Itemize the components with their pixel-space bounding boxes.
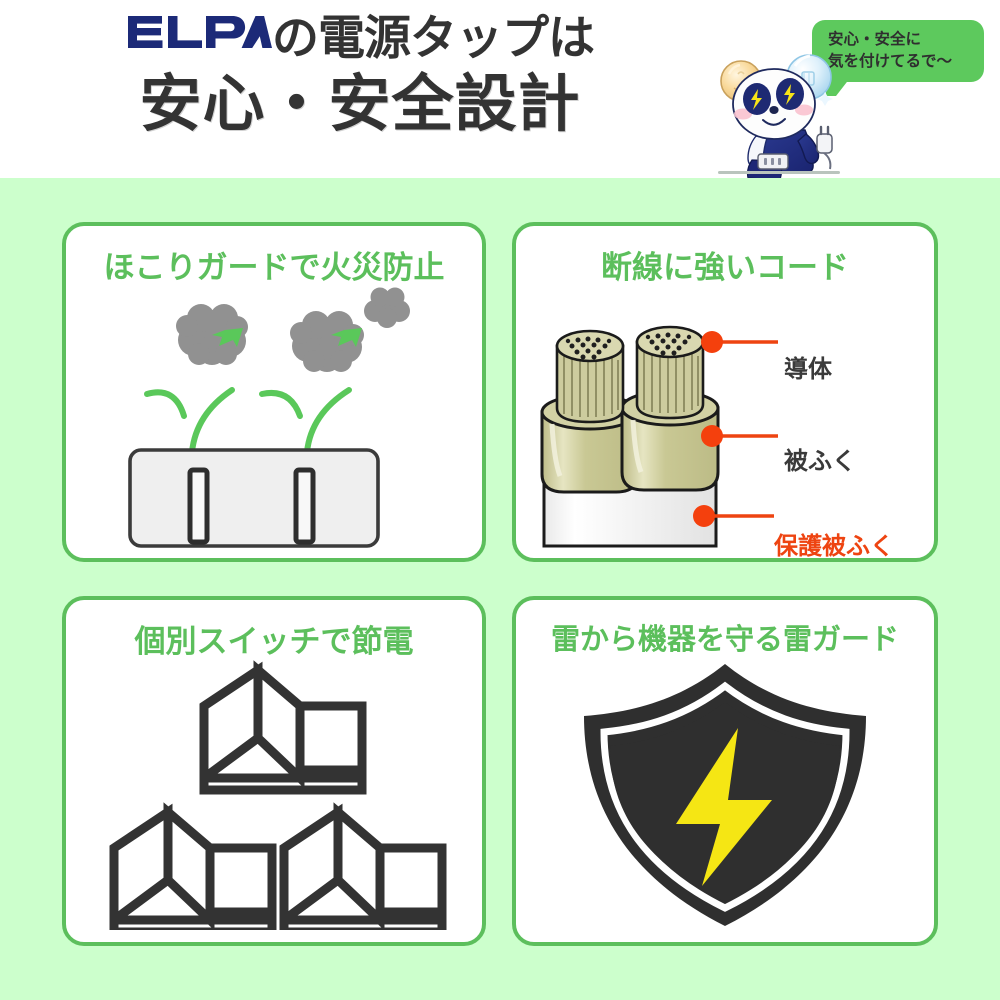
headline-line-2: 安心・安全設計 <box>0 68 720 142</box>
cable-label-conductor: 導体 <box>784 349 832 384</box>
rocker-switch-icon <box>114 670 442 930</box>
header: の電源タップは 安心・安全設計 安心・安全に 気を付けてるで〜 <box>0 0 1000 178</box>
power-tap-icon <box>758 154 788 169</box>
feature-card-surge-guard: 雷から機器を守る雷ガード <box>512 596 938 946</box>
headline-line-1: の電源タップは <box>0 8 720 68</box>
infographic-page: の電源タップは 安心・安全設計 安心・安全に 気を付けてるで〜 <box>0 0 1000 1000</box>
dust-guard-illustration <box>66 284 482 552</box>
headline-line-1-text: の電源タップは <box>272 11 594 64</box>
power-outlet-icon <box>130 450 378 546</box>
mascot-shadow <box>718 171 840 174</box>
dust-cloud-icon <box>176 288 410 373</box>
feature-card-dust-guard: ほこりガードで火災防止 <box>62 222 486 562</box>
surge-guard-illustration <box>516 658 934 936</box>
individual-switch-illustration <box>66 658 482 936</box>
feature-card-strong-cord: 断線に強いコード <box>512 222 938 562</box>
card-title-surge-guard: 雷から機器を守る雷ガード <box>516 616 934 658</box>
mascot-head <box>733 69 815 139</box>
card-title-individual-switch: 個別スイッチで節電 <box>66 616 482 661</box>
card-title-strong-cord: 断線に強いコード <box>516 242 934 287</box>
feature-card-individual-switch: 個別スイッチで節電 <box>62 596 486 946</box>
cable-label-insulation: 被ふく <box>784 441 856 476</box>
elpa-logo <box>126 12 272 54</box>
power-plug-icon <box>817 127 832 169</box>
dust-escape-arrow-icon <box>147 390 349 452</box>
cable-label-protective-sheath: 保護被ふく <box>774 526 894 561</box>
card-title-dust-guard: ほこりガードで火災防止 <box>66 242 482 287</box>
headline-block: の電源タップは 安心・安全設計 <box>0 8 720 142</box>
cable-callout-labels: 導体 被ふく 保護被ふく <box>516 284 934 552</box>
cable-cross-section-illustration: 導体 被ふく 保護被ふく <box>516 284 934 552</box>
mascot-character <box>716 48 856 180</box>
